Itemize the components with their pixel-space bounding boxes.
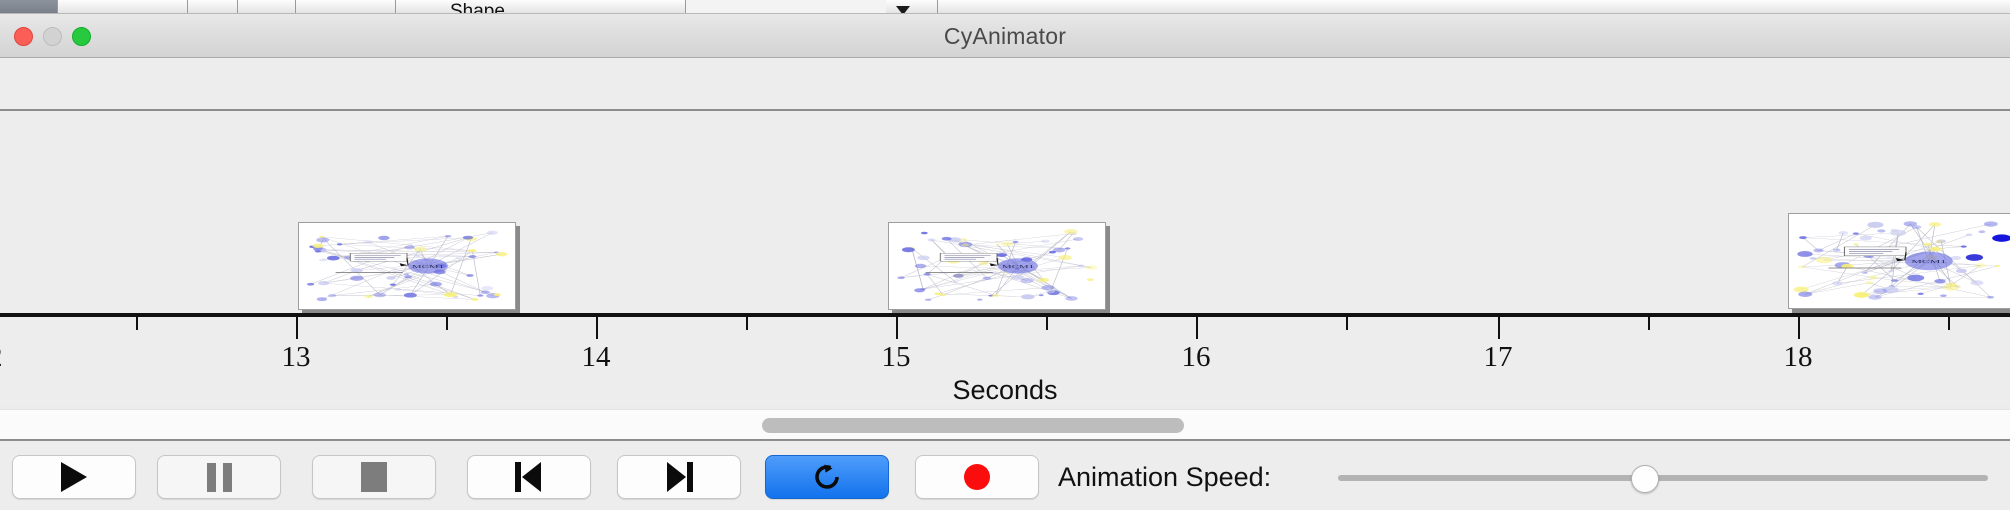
scrollbar-thumb[interactable]	[762, 418, 1184, 433]
axis-tick-label: 15	[882, 341, 911, 374]
keyframe-thumbnail: MCM1	[892, 226, 1102, 306]
axis-tick-label: 13	[282, 341, 311, 374]
window-title: CyAnimator	[0, 14, 2010, 58]
bg-tab	[396, 0, 686, 14]
background-window-strip: Shape	[0, 0, 2010, 14]
axis-tick-label: 16	[1182, 341, 1211, 374]
axis-tick-minor	[1948, 317, 1950, 330]
skip-forward-icon	[665, 462, 693, 492]
animation-speed-label: Animation Speed:	[1058, 455, 1271, 499]
title-bar: CyAnimator	[0, 14, 2010, 58]
timeline-track[interactable]: MCM1 MCM1	[0, 111, 2010, 313]
frame-toolbar: Clear All Frames	[0, 58, 2010, 111]
stop-icon	[361, 462, 387, 492]
axis-tick-major	[1498, 317, 1500, 339]
axis-tick-minor	[1648, 317, 1650, 330]
skip-back-icon	[515, 462, 543, 492]
timeline-axis: Seconds 12131415161718	[0, 313, 2010, 405]
axis-tick-label: 17	[1484, 341, 1513, 374]
play-icon	[61, 462, 87, 492]
axis-tick-label: 12	[0, 341, 3, 374]
next-frame-button[interactable]	[617, 455, 741, 499]
play-button[interactable]	[12, 455, 136, 499]
svg-text:MCM1: MCM1	[1002, 264, 1034, 269]
axis-tick-minor	[1346, 317, 1348, 330]
axis-tick-label: 14	[582, 341, 611, 374]
axis-tick-minor	[746, 317, 748, 330]
axis-tick-major	[1196, 317, 1198, 339]
horizontal-scrollbar[interactable]	[0, 409, 2010, 441]
slider-thumb[interactable]	[1631, 465, 1659, 493]
bg-tab	[886, 0, 938, 14]
loop-button[interactable]	[765, 455, 889, 499]
pause-button[interactable]	[157, 455, 281, 499]
record-icon	[964, 464, 990, 490]
svg-text:MCM1: MCM1	[1911, 259, 1946, 264]
cyanimator-window: Shape CyAnimator Clear All Frames	[0, 0, 2010, 510]
pause-icon	[207, 463, 232, 492]
svg-text:MCM1: MCM1	[412, 264, 444, 269]
axis-title: Seconds	[0, 375, 2010, 406]
chevron-down-icon	[896, 6, 910, 14]
animation-speed-slider[interactable]	[1338, 455, 1988, 499]
keyframe-thumbnail: MCM1	[1792, 217, 2010, 305]
timeline-keyframe[interactable]: MCM1	[298, 222, 516, 310]
bg-tab	[938, 0, 2010, 14]
playback-controls: Animation Speed:	[0, 443, 2010, 510]
bg-tab	[58, 0, 188, 14]
axis-tick-label: 18	[1784, 341, 1813, 374]
axis-tick-major	[1798, 317, 1800, 339]
bg-tab	[188, 0, 238, 14]
axis-tick-major	[896, 317, 898, 339]
axis-tick-minor	[446, 317, 448, 330]
loop-icon	[810, 460, 844, 494]
axis-tick-major	[296, 317, 298, 339]
axis-tick-major	[596, 317, 598, 339]
axis-line	[0, 313, 2010, 317]
timeline-keyframe[interactable]: MCM1	[1788, 213, 2010, 309]
record-button[interactable]	[915, 455, 1039, 499]
bg-tab	[296, 0, 396, 14]
stop-button[interactable]	[312, 455, 436, 499]
previous-frame-button[interactable]	[467, 455, 591, 499]
axis-tick-minor	[1046, 317, 1048, 330]
slider-track[interactable]	[1338, 475, 1988, 481]
timeline-keyframe[interactable]: MCM1	[888, 222, 1106, 310]
background-window-label: Shape	[450, 1, 505, 14]
bg-tab-selected	[0, 0, 58, 14]
axis-tick-minor	[136, 317, 138, 330]
bg-tab	[238, 0, 296, 14]
keyframe-thumbnail: MCM1	[302, 226, 512, 306]
